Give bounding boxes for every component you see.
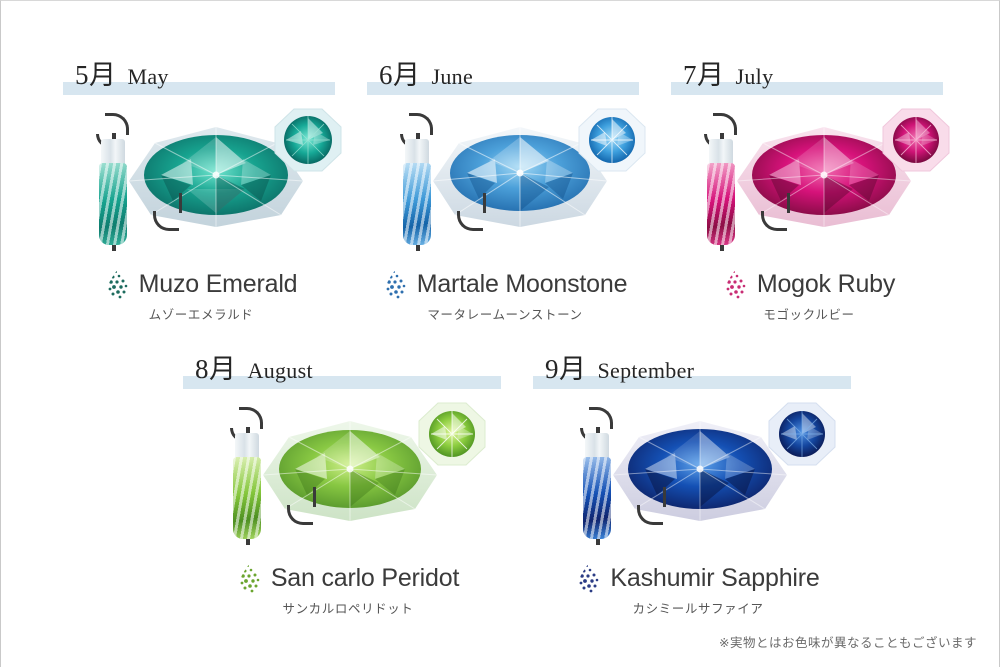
umbrella-illustration-september xyxy=(519,397,869,557)
umbrella-illustration-may xyxy=(49,103,353,263)
month-row-bottom: 8月August xyxy=(169,353,869,617)
gem-inset-may xyxy=(269,103,347,177)
header-text: 5月May xyxy=(75,53,169,92)
month-en: September xyxy=(598,358,695,383)
product-name-en: Muzo Emerald xyxy=(139,270,298,299)
gem-inset-july xyxy=(877,103,955,177)
product-name-july: Mogok Ruby モゴックルビー xyxy=(657,267,961,323)
product-name-jp: サンカルロペリドット xyxy=(177,598,519,617)
month-jp: 6月 xyxy=(379,60,421,90)
gem-drop-icon xyxy=(105,267,131,301)
month-en: July xyxy=(736,64,774,89)
gem-inset-september xyxy=(763,397,841,471)
month-card-august[interactable]: 8月August xyxy=(169,353,519,617)
month-en: May xyxy=(128,64,169,89)
month-header-august: 8月August xyxy=(183,353,501,393)
umbrella-illustration-june xyxy=(353,103,657,263)
month-en: June xyxy=(432,64,474,89)
disclaimer-note: ※実物とはお色味が異なることもございます xyxy=(719,632,977,651)
gem-drop-icon xyxy=(723,267,749,301)
month-header-may: 5月May xyxy=(63,59,335,99)
month-row-top: 5月May xyxy=(49,59,961,323)
product-name-en: Martale Moonstone xyxy=(417,270,628,299)
month-jp: 7月 xyxy=(683,60,725,90)
gem-inset-august xyxy=(413,397,491,471)
month-card-september[interactable]: 9月September xyxy=(519,353,869,617)
gem-drop-icon xyxy=(576,561,602,595)
product-name-may: Muzo Emerald ムゾーエメラルド xyxy=(49,267,353,323)
catalog-page: 5月May xyxy=(0,0,1000,667)
product-name-en: Kashumir Sapphire xyxy=(610,564,819,593)
month-card-june[interactable]: 6月June xyxy=(353,59,657,323)
month-header-july: 7月July xyxy=(671,59,943,99)
month-header-september: 9月September xyxy=(533,353,851,393)
product-name-en: San carlo Peridot xyxy=(271,564,459,593)
product-name-en: Mogok Ruby xyxy=(757,270,895,299)
header-text: 6月June xyxy=(379,53,473,92)
month-jp: 8月 xyxy=(195,354,237,384)
product-name-jp: マータレームーンストーン xyxy=(353,304,657,323)
product-name-august: San carlo Peridot サンカルロペリドット xyxy=(177,561,519,617)
header-text: 8月August xyxy=(195,347,313,386)
month-header-june: 6月June xyxy=(367,59,639,99)
product-name-jp: カシミールサファイア xyxy=(527,598,869,617)
product-name-september: Kashumir Sapphire カシミールサファイア xyxy=(527,561,869,617)
month-jp: 9月 xyxy=(545,354,587,384)
gem-inset-june xyxy=(573,103,651,177)
month-en: August xyxy=(248,358,313,383)
header-text: 9月September xyxy=(545,347,694,386)
product-name-jp: ムゾーエメラルド xyxy=(49,304,353,323)
gem-drop-icon xyxy=(237,561,263,595)
product-name-june: Martale Moonstone マータレームーンストーン xyxy=(353,267,657,323)
gem-drop-icon xyxy=(383,267,409,301)
umbrella-illustration-august xyxy=(169,397,519,557)
header-text: 7月July xyxy=(683,53,773,92)
umbrella-illustration-july xyxy=(657,103,961,263)
month-jp: 5月 xyxy=(75,60,117,90)
product-name-jp: モゴックルビー xyxy=(657,304,961,323)
month-card-july[interactable]: 7月July xyxy=(657,59,961,323)
month-card-may[interactable]: 5月May xyxy=(49,59,353,323)
